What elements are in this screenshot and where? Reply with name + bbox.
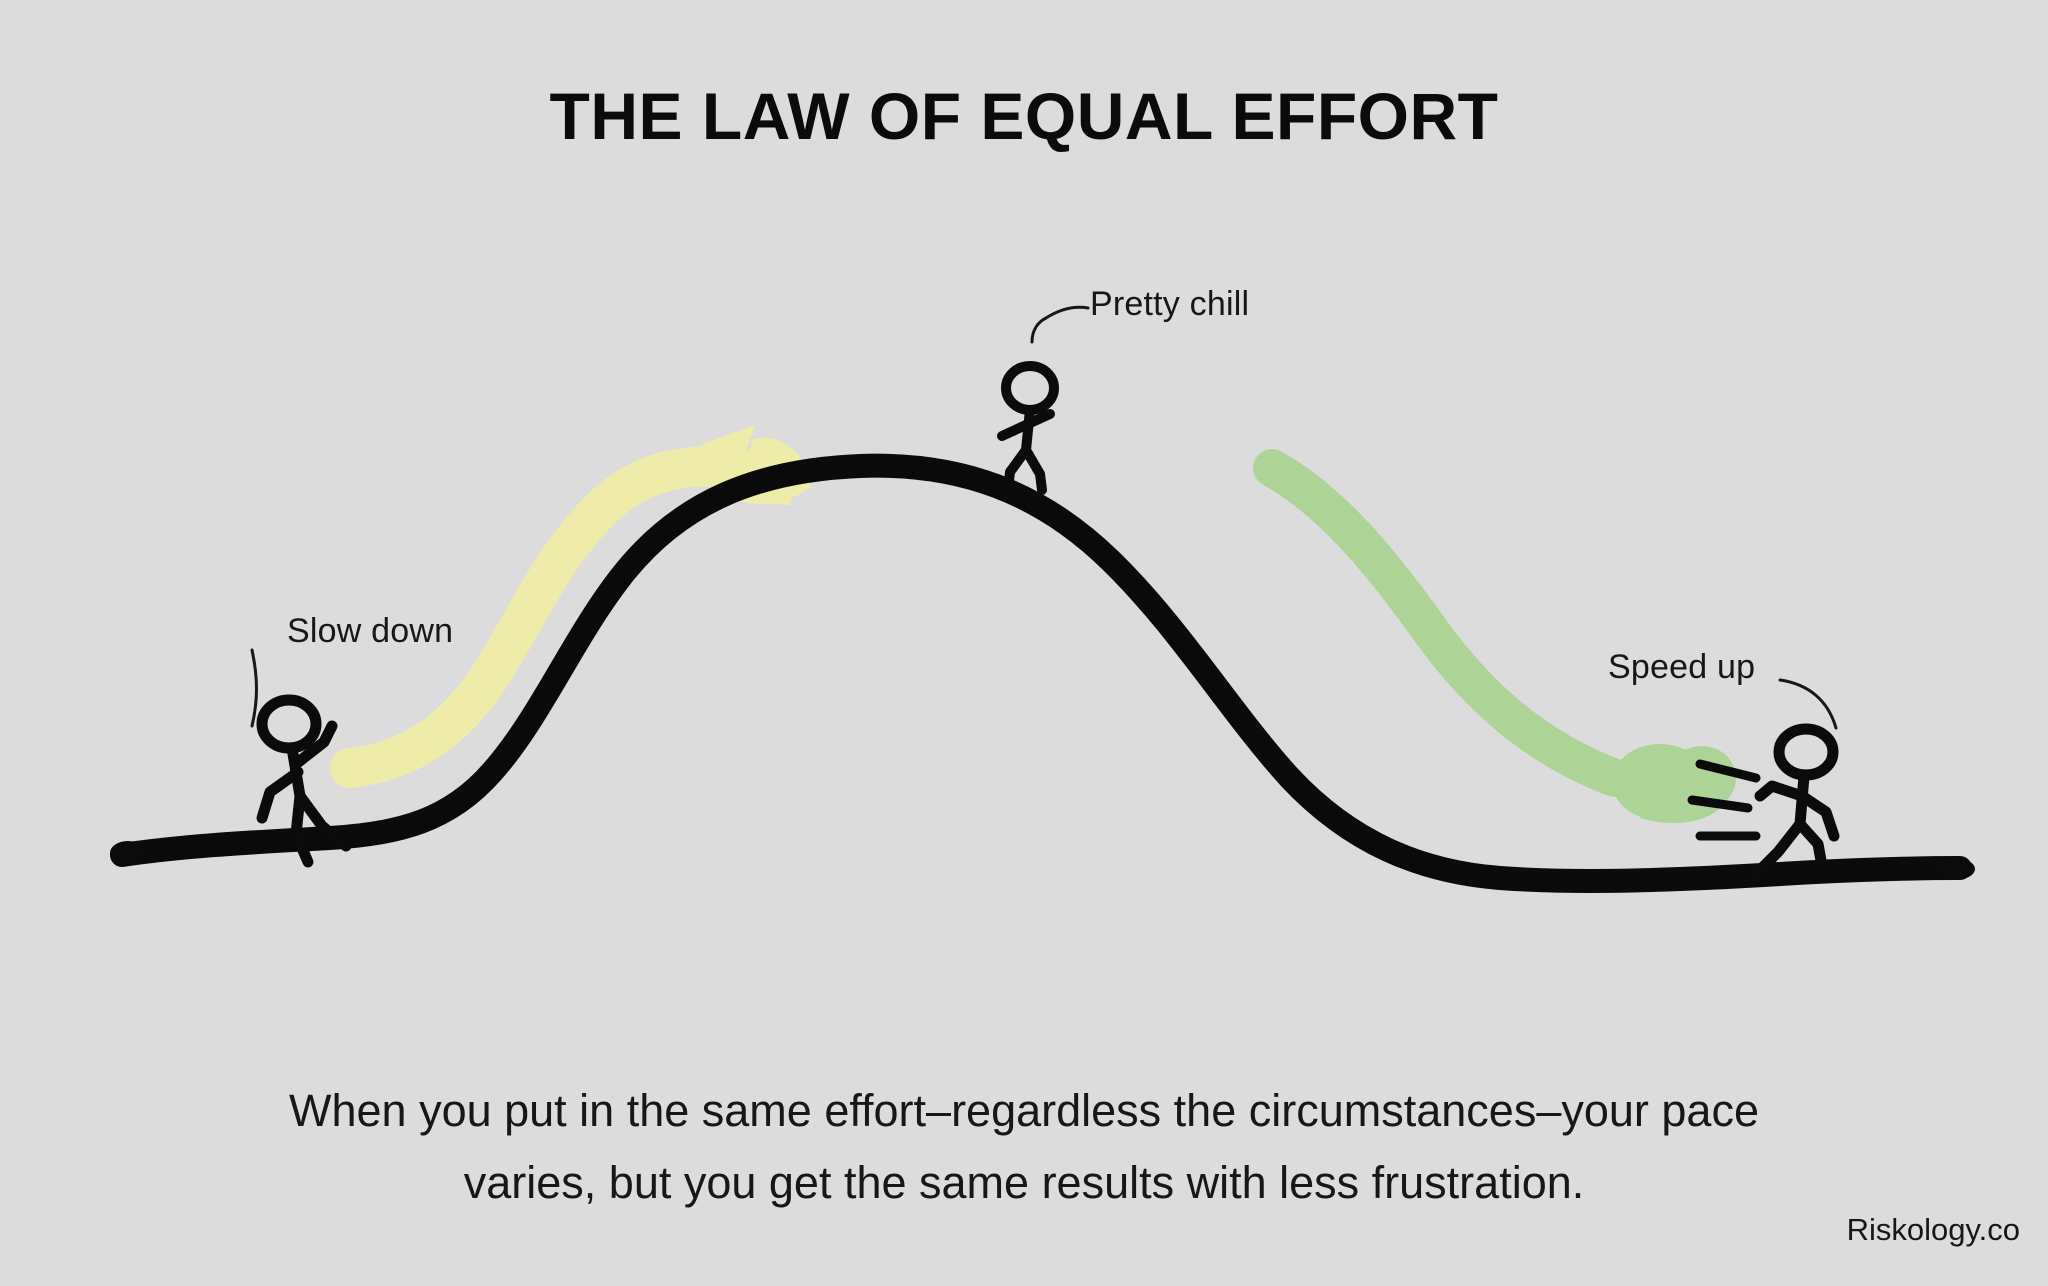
annotation-slow-down: Slow down	[287, 612, 453, 651]
speed-up-arrow	[1272, 468, 1736, 823]
stick-figure-standing-summit	[1002, 366, 1054, 490]
pretty-chill-leader-line-tail	[1032, 318, 1046, 342]
caption-line-2: varies, but you get the same results wit…	[0, 1147, 2048, 1219]
stick-figure-running-downhill	[1756, 729, 1834, 874]
pretty-chill-leader-line	[1046, 307, 1088, 318]
caption-line-1: When you put in the same effort–regardle…	[0, 1075, 2048, 1147]
speed-up-leader-line	[1780, 680, 1836, 728]
caption-block: When you put in the same effort–regardle…	[0, 1075, 2048, 1219]
infographic-canvas: THE LAW OF EQUAL EFFORT	[0, 0, 2048, 1286]
footer-attribution: Riskology.co	[1847, 1212, 2020, 1248]
annotation-speed-up: Speed up	[1608, 648, 1755, 687]
slow-down-leader-line	[252, 650, 257, 726]
annotation-pretty-chill: Pretty chill	[1090, 285, 1249, 324]
